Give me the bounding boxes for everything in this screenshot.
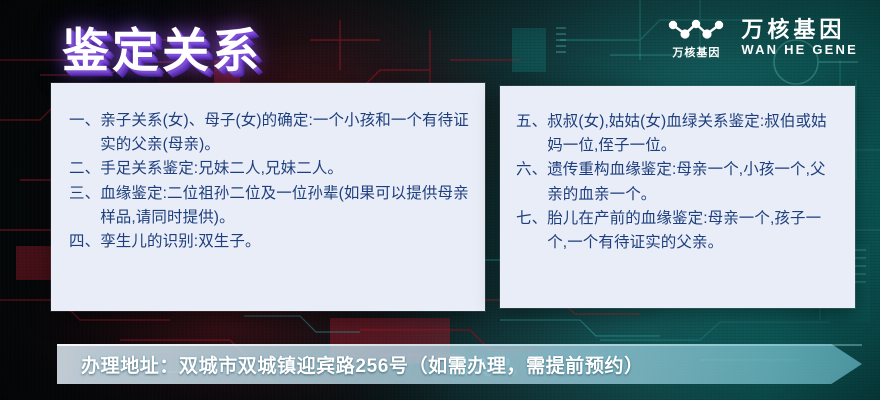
- list-item-text: 手足关系鉴定:兄妹二人,兄妹二人。: [100, 157, 469, 181]
- molecule-icon: [665, 16, 727, 46]
- brand-mark: 万核基因: [665, 16, 727, 59]
- list-item-number: 四、: [69, 230, 100, 254]
- list-item-text: 血缘鉴定:二位祖孙二位及一位孙辈(如果可以提供母亲样品,请同时提供)。: [100, 182, 469, 230]
- list-item: 六、 遗传重构血缘鉴定:母亲一个,小孩一个,父亲的血亲一个。: [516, 158, 841, 206]
- brand-name-cn: 万核基因: [741, 18, 858, 41]
- list-item: 七、 胎儿在产前的血缘鉴定:母亲一个,孩子一个,一个有待证实的父亲。: [516, 207, 841, 255]
- list-item: 一、 亲子关系(女)、母子(女)的确定:一个小孩和一个有待证实的父亲(母亲)。: [69, 109, 469, 157]
- service-list-panel-right: 五、 叔叔(女),姑姑(女)血绿关系鉴定:叔伯或姑妈一位,侄子一位。 六、 遗传…: [500, 86, 855, 308]
- service-list-right: 五、 叔叔(女),姑姑(女)血绿关系鉴定:叔伯或姑妈一位,侄子一位。 六、 遗传…: [500, 86, 855, 255]
- service-list-panel-left: 一、 亲子关系(女)、母子(女)的确定:一个小孩和一个有待证实的父亲(母亲)。 …: [51, 83, 485, 311]
- list-item: 三、 血缘鉴定:二位祖孙二位及一位孙辈(如果可以提供母亲样品,请同时提供)。: [69, 182, 469, 230]
- list-item-text: 孪生儿的识别:双生子。: [100, 230, 469, 254]
- list-item-number: 五、: [516, 110, 547, 134]
- address-banner: 办理地址：双城市双城镇迎宾路256号（如需办理，需提前预约）: [57, 344, 862, 384]
- page-title: 鉴定关系: [62, 12, 262, 81]
- list-item-number: 七、: [516, 207, 547, 231]
- list-item-text: 叔叔(女),姑姑(女)血绿关系鉴定:叔伯或姑妈一位,侄子一位。: [547, 110, 841, 158]
- list-item: 二、 手足关系鉴定:兄妹二人,兄妹二人。: [69, 157, 469, 181]
- brand-names: 万核基因 WAN HE GENE: [741, 18, 858, 57]
- list-item-number: 三、: [69, 182, 100, 206]
- brand-mark-label: 万核基因: [672, 48, 720, 59]
- address-text: 办理地址：双城市双城镇迎宾路256号（如需办理，需提前预约）: [81, 344, 644, 384]
- list-item-number: 一、: [69, 109, 100, 133]
- list-item-text: 亲子关系(女)、母子(女)的确定:一个小孩和一个有待证实的父亲(母亲)。: [100, 109, 469, 157]
- list-item: 四、 孪生儿的识别:双生子。: [69, 230, 469, 254]
- list-item: 五、 叔叔(女),姑姑(女)血绿关系鉴定:叔伯或姑妈一位,侄子一位。: [516, 110, 841, 158]
- service-list-left: 一、 亲子关系(女)、母子(女)的确定:一个小孩和一个有待证实的父亲(母亲)。 …: [51, 83, 485, 254]
- brand-logo: 万核基因 万核基因 WAN HE GENE: [665, 16, 858, 59]
- list-item-text: 胎儿在产前的血缘鉴定:母亲一个,孩子一个,一个有待证实的父亲。: [547, 207, 841, 255]
- list-item-text: 遗传重构血缘鉴定:母亲一个,小孩一个,父亲的血亲一个。: [547, 158, 841, 206]
- list-item-number: 二、: [69, 157, 100, 181]
- list-item-number: 六、: [516, 158, 547, 182]
- brand-name-en: WAN HE GENE: [741, 43, 858, 57]
- promo-banner-image: 鉴定关系 万核基因 万核基因 WAN HE GENE: [0, 0, 880, 400]
